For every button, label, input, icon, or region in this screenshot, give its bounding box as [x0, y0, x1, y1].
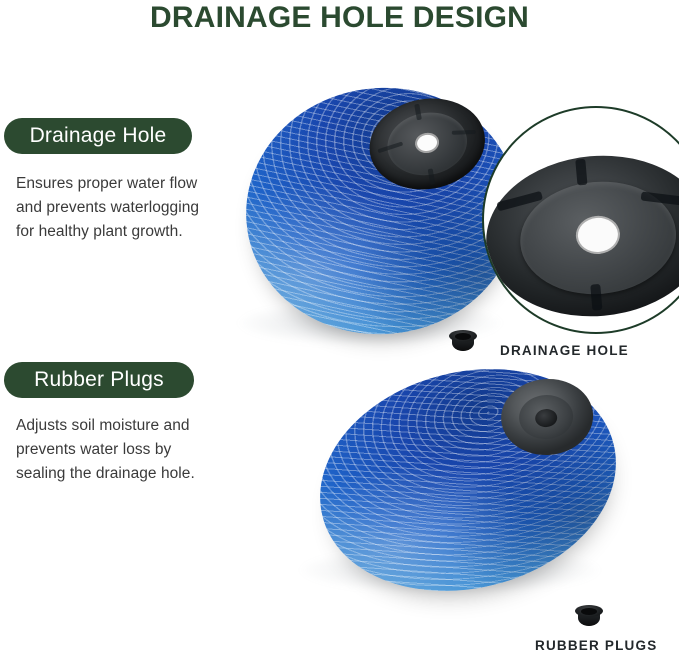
callout-base-notch	[590, 284, 602, 311]
feature-badge-label: Drainage Hole	[30, 124, 167, 148]
feature-description-drainage-hole: Ensures proper water flow and prevents w…	[16, 172, 212, 244]
plug-bore	[455, 333, 471, 340]
pot-base-ring	[518, 393, 575, 441]
callout-label-drainage-hole: DRAINAGE HOLE	[500, 343, 629, 358]
feature-description-rubber-plugs: Adjusts soil moisture and prevents water…	[16, 414, 212, 486]
drainage-hole-sealed	[535, 408, 558, 427]
feature-badge-rubber-plugs: Rubber Plugs	[4, 362, 194, 398]
page-title: DRAINAGE HOLE DESIGN	[0, 0, 679, 36]
callout-drainage-hole	[574, 214, 621, 256]
feature-badge-drainage-hole: Drainage Hole	[4, 118, 192, 154]
rubber-plug-icon	[575, 605, 603, 627]
feature-badge-label: Rubber Plugs	[34, 368, 164, 392]
pot-base-rib	[452, 130, 476, 135]
callout-label-rubber-plugs: RUBBER PLUGS	[535, 638, 657, 653]
plug-bore	[581, 608, 597, 615]
magnified-drainage-hole-callout	[482, 106, 679, 334]
rubber-plug-icon	[449, 330, 477, 352]
callout-base-notch	[575, 159, 587, 186]
